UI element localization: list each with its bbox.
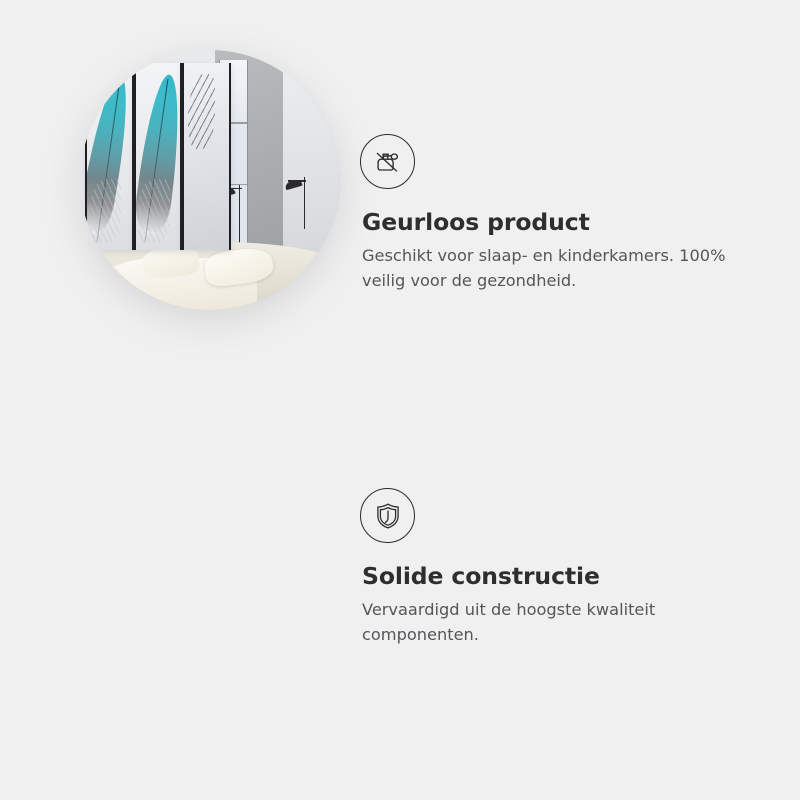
shield-icon — [360, 488, 415, 543]
canvas-panel-2 — [134, 63, 183, 250]
feature-description: Vervaardigd uit de hoogste kwaliteit com… — [362, 597, 754, 647]
floor-lamp-pole-left — [239, 185, 241, 247]
product-feature-page: Geurloos product Geschikt voor slaap- en… — [0, 0, 800, 800]
canvas-panel-3 — [182, 63, 231, 250]
feature-title: Solide constructie — [362, 562, 600, 590]
product-image-bedroom-feather-canvas — [80, 50, 340, 310]
feature-block-solide-constructie: Solide constructie Vervaardigd uit de ho… — [0, 400, 800, 800]
bedroom-scene — [80, 50, 340, 310]
feather-barbs-1 — [90, 179, 121, 243]
feature-text-solide-constructie: Solide constructie Vervaardigd uit de ho… — [360, 0, 760, 400]
floor-lamp-pole-right — [304, 177, 306, 229]
feather-art-3 — [188, 74, 215, 149]
feather-barbs-2 — [138, 179, 169, 243]
canvas-panel-1 — [85, 63, 134, 250]
feather-canvas-triptych — [85, 63, 231, 250]
